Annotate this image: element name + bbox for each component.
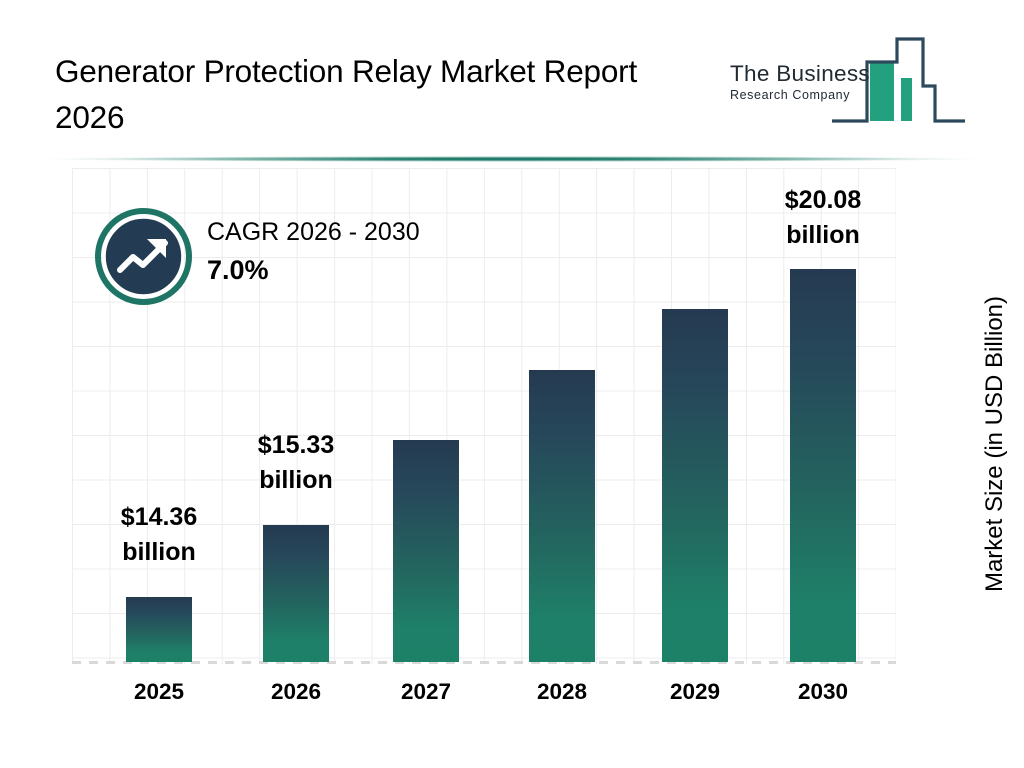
header-divider	[40, 156, 984, 162]
logo-line-1: The Business	[730, 61, 878, 86]
chart-page: Generator Protection Relay Market Report…	[0, 0, 1024, 768]
xtick-2027: 2027	[366, 678, 486, 706]
bar-2026	[263, 525, 329, 662]
header: Generator Protection Relay Market Report…	[0, 0, 1024, 160]
bar-2025	[126, 597, 192, 662]
chart-baseline	[72, 661, 896, 664]
logo-line-2: Research Company	[730, 87, 878, 103]
xtick-2025: 2025	[99, 678, 219, 706]
page-title: Generator Protection Relay Market Report…	[55, 48, 695, 140]
xtick-2026: 2026	[236, 678, 356, 706]
cagr-annotation: CAGR 2026 - 2030 7.0%	[95, 208, 495, 308]
bar-2030	[790, 269, 856, 662]
value-amount-2030: $20.08	[758, 183, 888, 218]
bar-2028	[529, 370, 595, 662]
value-unit-2025: billion	[94, 535, 224, 570]
value-unit-2030: billion	[758, 218, 888, 253]
cagr-text-block: CAGR 2026 - 2030 7.0%	[207, 216, 497, 288]
logo-wordmark: The Business Research Company	[730, 61, 878, 103]
value-amount-2025: $14.36	[94, 500, 224, 535]
value-unit-2026: billion	[231, 463, 361, 498]
value-label-2026: $15.33 billion	[231, 428, 361, 498]
trending-up-arrow-icon	[95, 208, 192, 305]
value-amount-2026: $15.33	[231, 428, 361, 463]
cagr-value-label: 7.0%	[207, 252, 497, 288]
cagr-period-label: CAGR 2026 - 2030	[207, 216, 497, 248]
bar-2029	[662, 309, 728, 662]
xtick-2028: 2028	[502, 678, 622, 706]
company-logo: The Business Research Company	[722, 33, 972, 133]
xtick-2029: 2029	[635, 678, 755, 706]
y-axis-label: Market Size (in USD Billion)	[981, 254, 1009, 634]
xtick-2030: 2030	[763, 678, 883, 706]
value-label-2025: $14.36 billion	[94, 500, 224, 570]
bar-2027	[393, 440, 459, 662]
value-label-2030: $20.08 billion	[758, 183, 888, 253]
